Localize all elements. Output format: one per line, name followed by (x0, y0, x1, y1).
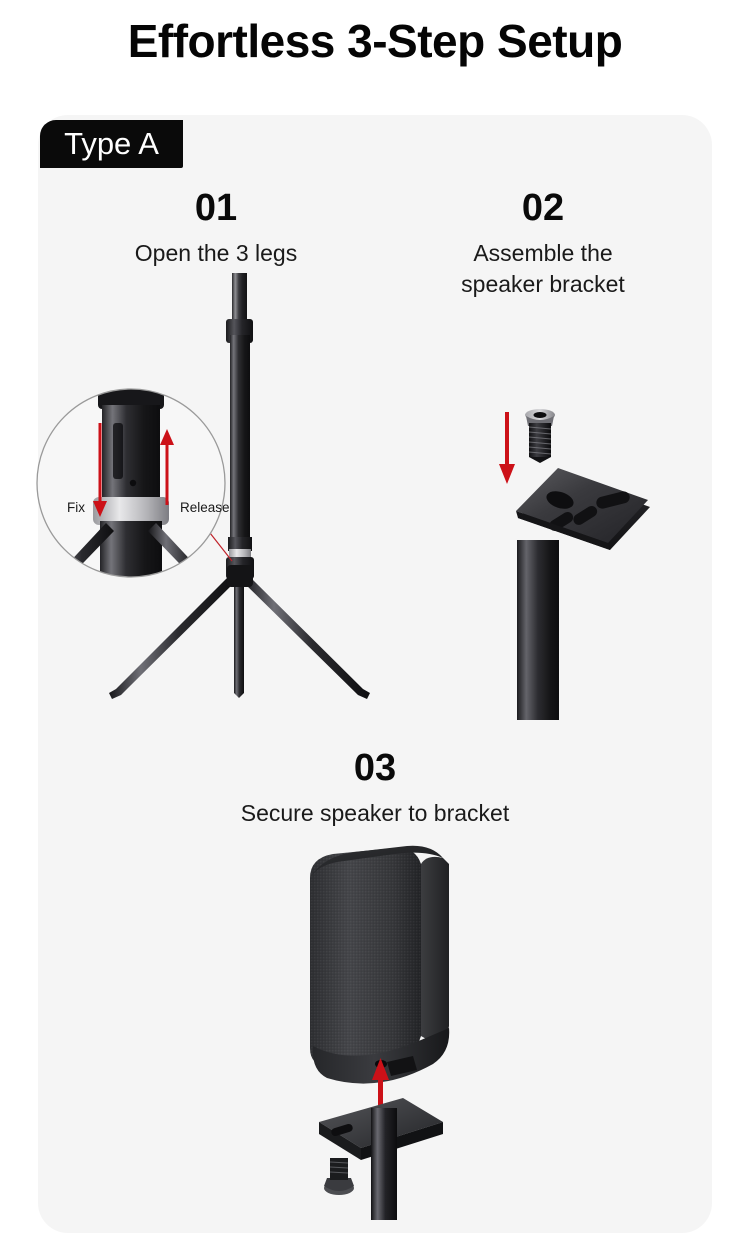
stand-pole (371, 1108, 397, 1220)
step-01-number: 01 (96, 186, 336, 230)
bracket-arrow-down (499, 412, 515, 484)
type-a-badge: Type A (40, 120, 183, 168)
tripod-column (226, 273, 254, 579)
bracket-screw (525, 409, 555, 463)
speaker-body (310, 846, 449, 1066)
speaker-illustration (275, 840, 485, 1220)
bracket-tube (517, 540, 559, 720)
tripod-legs (109, 575, 370, 699)
fix-release-callout: Fix Release (37, 355, 230, 617)
step-02-description: Assemble the speaker bracket (413, 238, 673, 300)
bracket-illustration (460, 390, 680, 720)
step-02-description-line2: speaker bracket (413, 269, 673, 300)
tripod-illustration: Fix Release (20, 265, 420, 715)
fix-label: Fix (67, 500, 85, 515)
step-03-number: 03 (255, 746, 495, 790)
mounting-screw (324, 1158, 354, 1195)
page-title: Effortless 3-Step Setup (0, 10, 750, 72)
step-02-description-line1: Assemble the (413, 238, 673, 269)
step-02-number: 02 (423, 186, 663, 230)
bracket-plate (516, 468, 650, 550)
step-03-description: Secure speaker to bracket (145, 798, 605, 829)
release-label: Release (180, 500, 230, 515)
